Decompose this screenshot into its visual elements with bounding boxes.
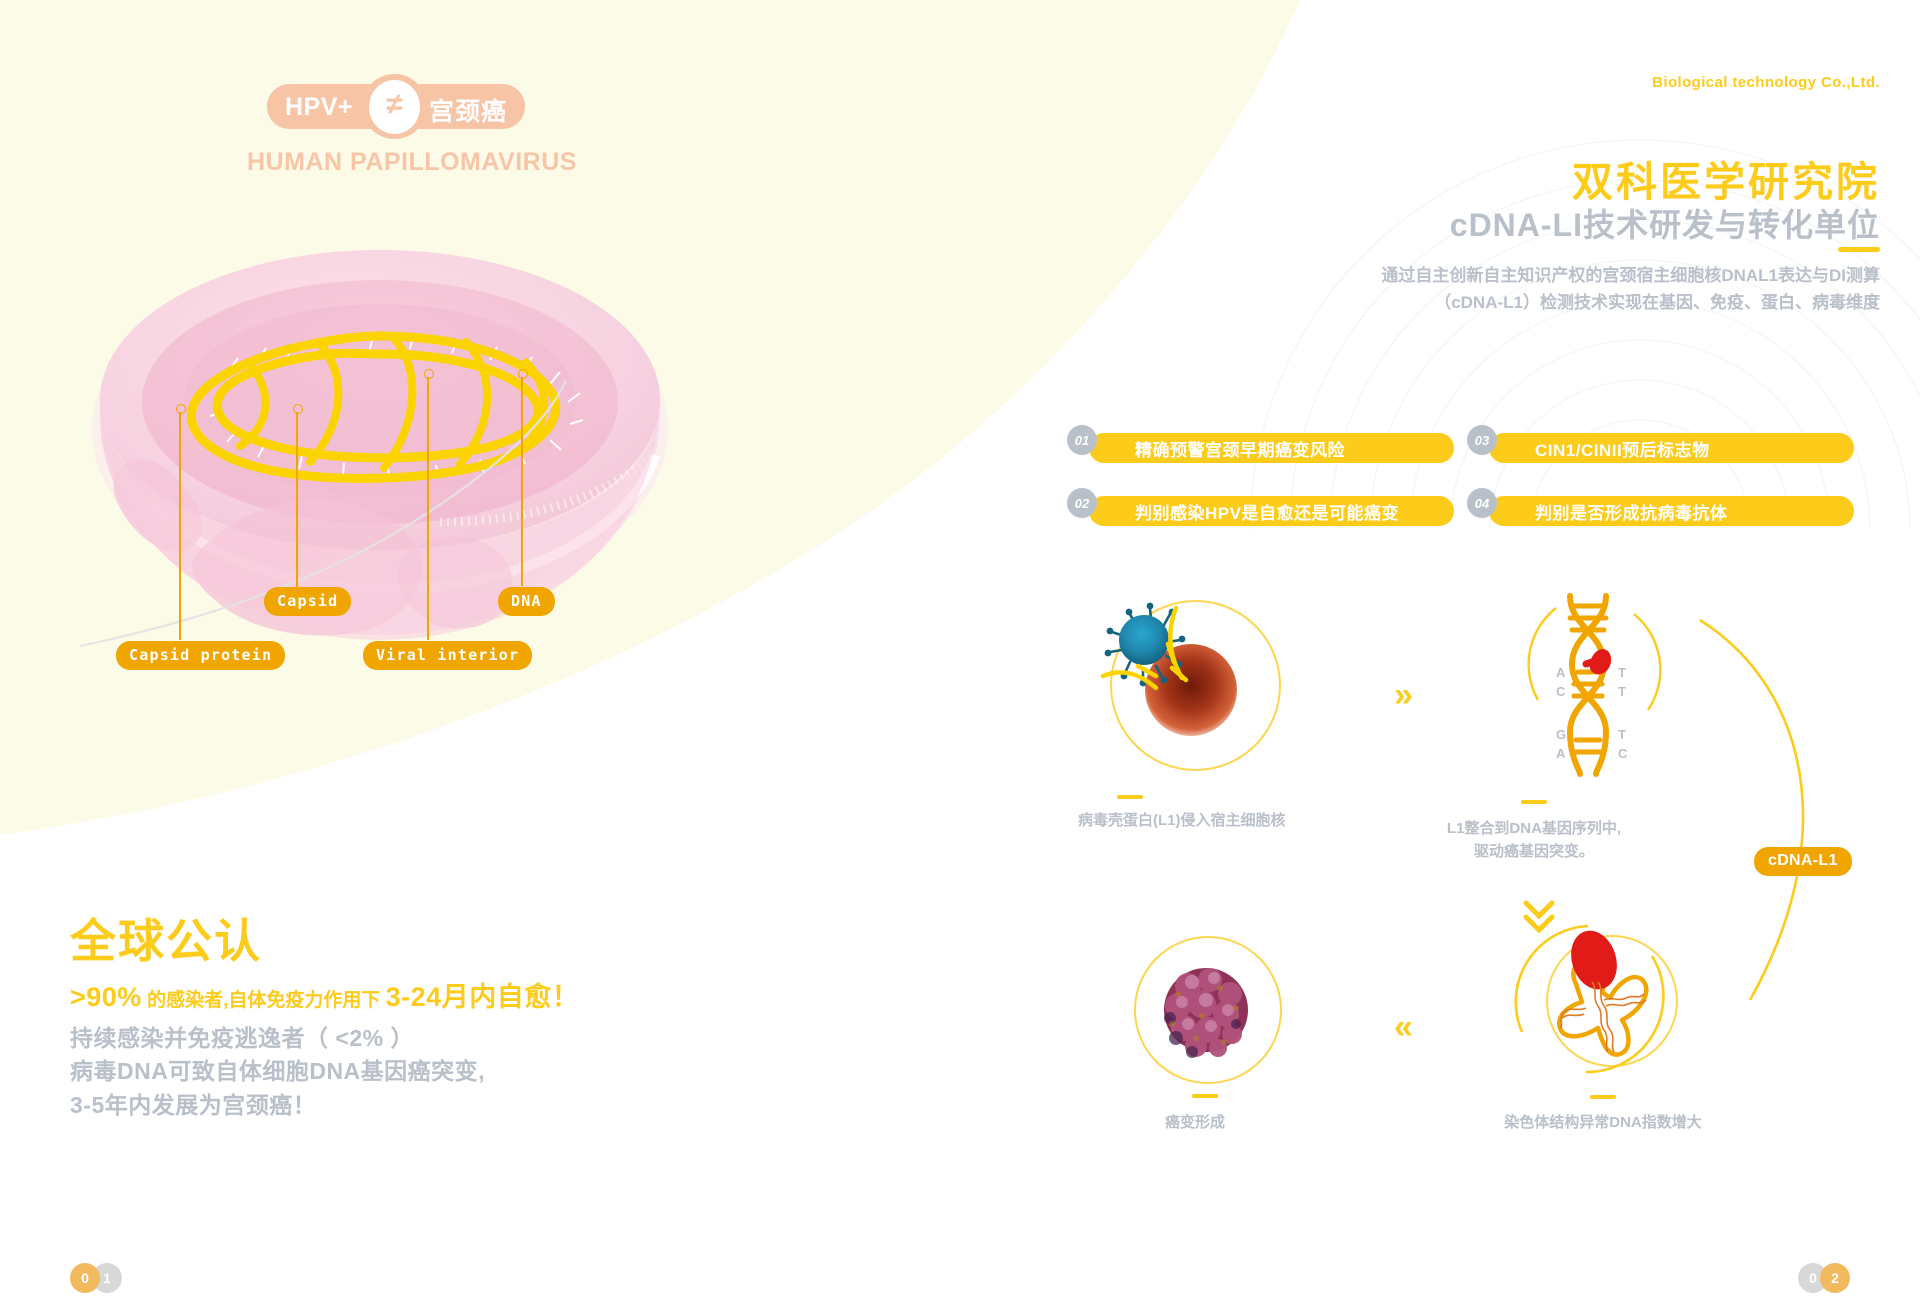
paragraph-line-3: 3-5年内发展为宫颈癌！ (70, 1089, 485, 1122)
callout-line-capsid (296, 412, 298, 587)
callout-dot-capsid-protein (176, 404, 186, 414)
global-consensus-headline: 全球公认 (70, 905, 262, 971)
cdna-l1-badge: cDNA-L1 (1754, 847, 1852, 876)
process-caption-2-line2: 驱动癌基因突变。 (1414, 841, 1654, 864)
callout-dna: DNA (498, 587, 555, 616)
poster-canvas: HPV+ 宫颈癌 ≠ HUMAN PAPILLOMAVIRUS (0, 0, 1920, 1303)
process-caption-2-line1: L1整合到DNA基因序列中, (1414, 818, 1654, 841)
paragraph-line-2: 病毒DNA可致自体细胞DNA基因癌突变, (70, 1055, 485, 1088)
dna-base-right-4: C (1618, 746, 1627, 761)
dna-base-right-3: T (1618, 727, 1626, 742)
stat-middle-text: 的感染者,自体免疫力作用下 (142, 990, 386, 1011)
stat-percent: >90% (70, 982, 142, 1012)
feature-label-03: CIN1/CINII预后标志物 (1489, 436, 1710, 461)
human-papillomavirus-subtitle: HUMAN PAPILLOMAVIRUS (247, 148, 577, 177)
institute-description: 通过自主创新自主知识产权的宫颈宿主细胞核DNAL1表达与DI测算 （cDNA-L… (1260, 262, 1880, 316)
chevron-left-icon: « (1394, 1010, 1413, 1044)
description-line-2: （cDNA-L1）检测技术实现在基因、免疫、蛋白、病毒维度 (1260, 289, 1880, 316)
callout-capsid-protein: Capsid protein (116, 641, 285, 670)
page-left-digit-1: 0 (70, 1263, 100, 1293)
not-equal-glyph: ≠ (369, 80, 420, 134)
process-rule-1 (1117, 795, 1143, 799)
callout-dot-viral-interior (424, 369, 434, 379)
title-divider (1838, 247, 1880, 252)
callout-line-capsid-protein (179, 412, 181, 640)
feature-number-03: 03 (1467, 425, 1497, 455)
feature-label-04: 判别是否形成抗病毒抗体 (1489, 499, 1728, 524)
hpv-badge-label: HPV+ (285, 93, 353, 122)
callout-dot-dna (518, 369, 528, 379)
callout-line-dna (521, 377, 523, 586)
page-right-digit-2: 2 (1820, 1263, 1850, 1293)
cervical-cancer-label: 宫颈癌 (429, 92, 507, 128)
process-flow-arc (1690, 600, 1890, 1030)
callout-viral-interior: Viral interior (363, 641, 532, 670)
callout-capsid: Capsid (264, 587, 351, 616)
description-line-1: 通过自主创新自主知识产权的宫颈宿主细胞核DNAL1表达与DI测算 (1260, 262, 1880, 289)
not-equal-icon: ≠ (362, 74, 427, 139)
persistent-infection-paragraph: 持续感染并免疫逃逸者（ <2% ） 病毒DNA可致自体细胞DNA基因癌突变, 3… (70, 1022, 485, 1122)
dna-base-left-3: G (1556, 727, 1566, 742)
chevron-right-icon: » (1394, 678, 1413, 712)
feature-number-02: 02 (1067, 488, 1097, 518)
virus-invading-cell-icon (1098, 592, 1298, 782)
dna-base-left-2: C (1556, 684, 1565, 699)
process-caption-1: 病毒壳蛋白(L1)侵入宿主细胞核 (1078, 810, 1318, 833)
feature-number-01: 01 (1067, 425, 1097, 455)
process-caption-2: L1整合到DNA基因序列中, 驱动癌基因突变。 (1414, 818, 1654, 863)
callout-line-viral-interior (427, 377, 429, 640)
dna-base-right-2: T (1618, 684, 1626, 699)
paragraph-line-1: 持续感染并免疫逃逸者（ <2% ） (70, 1022, 485, 1055)
dna-base-left-1: A (1556, 665, 1565, 680)
process-rule-3 (1192, 1094, 1218, 1098)
process-rule-4 (1590, 1095, 1616, 1099)
abnormal-chromosome-icon (1510, 920, 1720, 1100)
tumor-cluster-icon (1148, 952, 1268, 1072)
dna-base-right-1: T (1618, 665, 1626, 680)
feature-number-04: 04 (1467, 488, 1497, 518)
feature-label-01: 精确预警宫颈早期癌变风险 (1089, 436, 1345, 461)
dna-base-left-4: A (1556, 746, 1565, 761)
institute-title: 双科医学研究院 (1572, 148, 1880, 208)
process-caption-3: 癌变形成 (1085, 1112, 1305, 1135)
process-caption-4: 染色体结构异常DNA指数增大 (1483, 1112, 1723, 1135)
feature-label-02: 判别感染HPV是自愈还是可能癌变 (1089, 499, 1399, 524)
self-healing-stat-line: >90% 的感染者,自体免疫力作用下 3-24月内自愈！ (70, 975, 579, 1014)
process-rule-2 (1521, 800, 1547, 804)
institute-subtitle: cDNA-LI技术研发与转化单位 (1450, 200, 1880, 246)
stat-emphasis: 3-24月内自愈！ (386, 982, 580, 1012)
company-name-en: Biological technology Co.,Ltd. (1652, 74, 1880, 91)
callout-dot-capsid (293, 404, 303, 414)
